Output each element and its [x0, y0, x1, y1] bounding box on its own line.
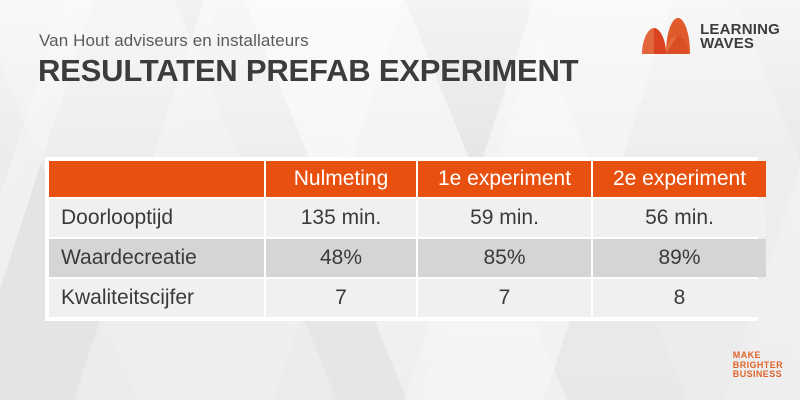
table-row-label: Doorlooptijd: [49, 199, 264, 237]
table-cell: 8: [593, 279, 766, 317]
results-table-body: Doorlooptijd 135 min. 59 min. 56 min. Wa…: [49, 199, 766, 317]
slide-canvas: Van Hout adviseurs en installateurs RESU…: [0, 0, 800, 400]
slide-title: RESULTATEN PREFAB EXPERIMENT: [38, 53, 578, 89]
table-row: Kwaliteitscijfer 7 7 8: [49, 279, 766, 317]
table-cell: 7: [418, 279, 591, 317]
table-header-cell-nulmeting: Nulmeting: [266, 161, 416, 197]
learning-waves-wave-mark-icon: [639, 14, 693, 60]
results-table-head: Nulmeting 1e experiment 2e experiment: [49, 161, 766, 197]
brand-logo-text: LEARNING WAVES: [700, 23, 780, 51]
table-header-cell-corner: [49, 161, 264, 197]
table-row: Waardecreatie 48% 85% 89%: [49, 239, 766, 277]
table-header-cell-experiment-1: 1e experiment: [418, 161, 591, 197]
results-table-container: Nulmeting 1e experiment 2e experiment Do…: [45, 157, 758, 321]
brand-logo-line2: WAVES: [700, 37, 780, 51]
table-header-cell-experiment-2: 2e experiment: [593, 161, 766, 197]
slide-subtitle: Van Hout adviseurs en installateurs: [39, 31, 309, 51]
table-cell: 7: [266, 279, 416, 317]
table-row-label: Kwaliteitscijfer: [49, 279, 264, 317]
table-cell: 56 min.: [593, 199, 766, 237]
table-cell: 135 min.: [266, 199, 416, 237]
table-header-row: Nulmeting 1e experiment 2e experiment: [49, 161, 766, 197]
table-cell: 85%: [418, 239, 591, 277]
table-row-label: Waardecreatie: [49, 239, 264, 277]
table-cell: 48%: [266, 239, 416, 277]
table-cell: 89%: [593, 239, 766, 277]
table-row: Doorlooptijd 135 min. 59 min. 56 min.: [49, 199, 766, 237]
table-cell: 59 min.: [418, 199, 591, 237]
results-table: Nulmeting 1e experiment 2e experiment Do…: [47, 159, 768, 319]
brand-logo: LEARNING WAVES: [639, 14, 780, 60]
brand-tagline: MAKE BRIGHTER BUSINESS: [733, 351, 783, 380]
brand-tagline-line3: BUSINESS: [733, 370, 783, 380]
